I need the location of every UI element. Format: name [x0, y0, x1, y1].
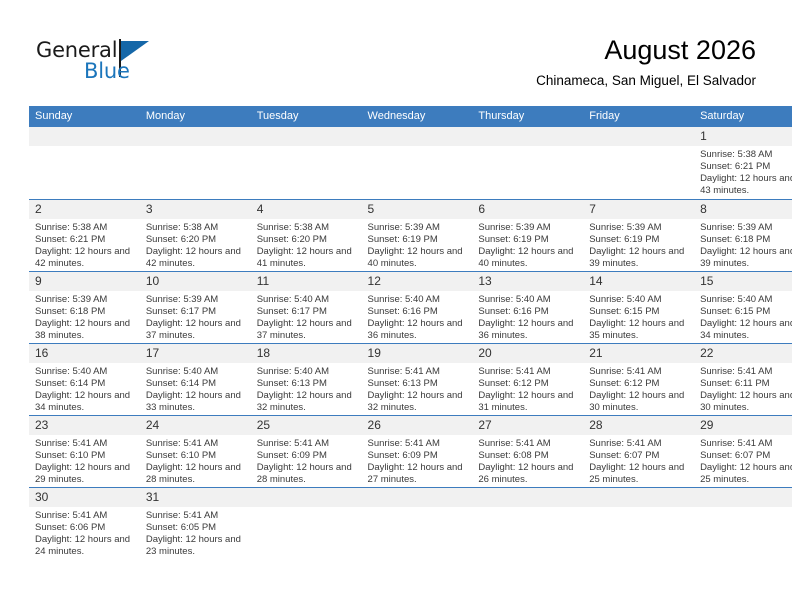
- sunrise-text: Sunrise: 5:41 AM: [368, 438, 468, 450]
- sunset-text: Sunset: 6:07 PM: [589, 450, 689, 462]
- day-number: [583, 488, 694, 507]
- calendar-week-row: 9Sunrise: 5:39 AMSunset: 6:18 PMDaylight…: [29, 271, 792, 343]
- calendar-header-row: SundayMondayTuesdayWednesdayThursdayFrid…: [29, 106, 792, 127]
- sunset-text: Sunset: 6:19 PM: [478, 234, 578, 246]
- sunrise-text: Sunrise: 5:41 AM: [146, 510, 246, 522]
- sunset-text: Sunset: 6:09 PM: [368, 450, 468, 462]
- daylight-text: Daylight: 12 hours and 28 minutes.: [257, 462, 357, 486]
- calendar-day-cell[interactable]: 4Sunrise: 5:38 AMSunset: 6:20 PMDaylight…: [251, 199, 362, 271]
- day-number: 28: [583, 416, 694, 435]
- sunrise-text: Sunrise: 5:40 AM: [257, 294, 357, 306]
- sunrise-text: Sunrise: 5:38 AM: [257, 222, 357, 234]
- day-details: Sunrise: 5:41 AMSunset: 6:10 PMDaylight:…: [29, 435, 140, 486]
- calendar-day-cell[interactable]: 11Sunrise: 5:40 AMSunset: 6:17 PMDayligh…: [251, 271, 362, 343]
- day-details: Sunrise: 5:41 AMSunset: 6:11 PMDaylight:…: [694, 363, 792, 414]
- sunrise-text: Sunrise: 5:41 AM: [368, 366, 468, 378]
- weekday-header-thursday: Thursday: [472, 106, 583, 127]
- sunset-text: Sunset: 6:12 PM: [589, 378, 689, 390]
- calendar-day-cell-empty: [362, 127, 473, 199]
- general-blue-logo[interactable]: General Blue: [36, 38, 166, 88]
- title-block: August 2026 Chinameca, San Miguel, El Sa…: [536, 34, 756, 91]
- calendar-day-cell[interactable]: 7Sunrise: 5:39 AMSunset: 6:19 PMDaylight…: [583, 199, 694, 271]
- weekday-header-monday: Monday: [140, 106, 251, 127]
- sunrise-text: Sunrise: 5:41 AM: [478, 438, 578, 450]
- sunrise-text: Sunrise: 5:38 AM: [700, 149, 792, 161]
- sunset-text: Sunset: 6:13 PM: [368, 378, 468, 390]
- sunset-text: Sunset: 6:14 PM: [146, 378, 246, 390]
- day-details: Sunrise: 5:41 AMSunset: 6:12 PMDaylight:…: [472, 363, 583, 414]
- sunrise-text: Sunrise: 5:41 AM: [700, 438, 792, 450]
- daylight-text: Daylight: 12 hours and 38 minutes.: [35, 318, 135, 342]
- day-number: 11: [251, 272, 362, 291]
- daylight-text: Daylight: 12 hours and 39 minutes.: [700, 246, 792, 270]
- day-number: [140, 127, 251, 146]
- daylight-text: Daylight: 12 hours and 34 minutes.: [35, 390, 135, 414]
- calendar-body: 1Sunrise: 5:38 AMSunset: 6:21 PMDaylight…: [29, 127, 792, 559]
- sunset-text: Sunset: 6:16 PM: [478, 306, 578, 318]
- page-title: August 2026: [536, 34, 756, 66]
- calendar-day-cell[interactable]: 6Sunrise: 5:39 AMSunset: 6:19 PMDaylight…: [472, 199, 583, 271]
- calendar-week-row: 30Sunrise: 5:41 AMSunset: 6:06 PMDayligh…: [29, 487, 792, 559]
- day-details: Sunrise: 5:39 AMSunset: 6:18 PMDaylight:…: [29, 291, 140, 342]
- sunset-text: Sunset: 6:06 PM: [35, 522, 135, 534]
- sunset-text: Sunset: 6:21 PM: [700, 161, 792, 173]
- sunset-text: Sunset: 6:14 PM: [35, 378, 135, 390]
- day-details: Sunrise: 5:39 AMSunset: 6:18 PMDaylight:…: [694, 219, 792, 270]
- calendar-day-cell[interactable]: 12Sunrise: 5:40 AMSunset: 6:16 PMDayligh…: [362, 271, 473, 343]
- calendar-day-cell-empty: [694, 487, 792, 559]
- weekday-header-sunday: Sunday: [29, 106, 140, 127]
- calendar-day-cell[interactable]: 8Sunrise: 5:39 AMSunset: 6:18 PMDaylight…: [694, 199, 792, 271]
- daylight-text: Daylight: 12 hours and 36 minutes.: [478, 318, 578, 342]
- weekday-header-wednesday: Wednesday: [362, 106, 473, 127]
- day-details: Sunrise: 5:41 AMSunset: 6:05 PMDaylight:…: [140, 507, 251, 558]
- day-number: [583, 127, 694, 146]
- day-details: Sunrise: 5:40 AMSunset: 6:16 PMDaylight:…: [472, 291, 583, 342]
- day-details: Sunrise: 5:39 AMSunset: 6:19 PMDaylight:…: [583, 219, 694, 270]
- calendar-day-cell[interactable]: 2Sunrise: 5:38 AMSunset: 6:21 PMDaylight…: [29, 199, 140, 271]
- day-number: 1: [694, 127, 792, 146]
- daylight-text: Daylight: 12 hours and 43 minutes.: [700, 173, 792, 197]
- calendar-day-cell[interactable]: 21Sunrise: 5:41 AMSunset: 6:12 PMDayligh…: [583, 343, 694, 415]
- day-number: [472, 488, 583, 507]
- logo-flag-icon: [121, 41, 149, 61]
- calendar-day-cell[interactable]: 26Sunrise: 5:41 AMSunset: 6:09 PMDayligh…: [362, 415, 473, 487]
- sunrise-text: Sunrise: 5:39 AM: [478, 222, 578, 234]
- day-number: [251, 488, 362, 507]
- sunrise-text: Sunrise: 5:41 AM: [35, 438, 135, 450]
- sunrise-text: Sunrise: 5:39 AM: [35, 294, 135, 306]
- day-number: 19: [362, 344, 473, 363]
- day-number: 6: [472, 200, 583, 219]
- daylight-text: Daylight: 12 hours and 35 minutes.: [589, 318, 689, 342]
- daylight-text: Daylight: 12 hours and 37 minutes.: [257, 318, 357, 342]
- sunrise-text: Sunrise: 5:40 AM: [478, 294, 578, 306]
- sunrise-text: Sunrise: 5:41 AM: [589, 366, 689, 378]
- day-details: Sunrise: 5:41 AMSunset: 6:12 PMDaylight:…: [583, 363, 694, 414]
- day-number: 20: [472, 344, 583, 363]
- weekday-header-saturday: Saturday: [694, 106, 792, 127]
- day-number: 21: [583, 344, 694, 363]
- sunrise-text: Sunrise: 5:39 AM: [368, 222, 468, 234]
- sunrise-text: Sunrise: 5:40 AM: [35, 366, 135, 378]
- day-number: [694, 488, 792, 507]
- day-details: Sunrise: 5:40 AMSunset: 6:13 PMDaylight:…: [251, 363, 362, 414]
- daylight-text: Daylight: 12 hours and 32 minutes.: [368, 390, 468, 414]
- daylight-text: Daylight: 12 hours and 36 minutes.: [368, 318, 468, 342]
- day-details: Sunrise: 5:41 AMSunset: 6:10 PMDaylight:…: [140, 435, 251, 486]
- day-number: 27: [472, 416, 583, 435]
- sunset-text: Sunset: 6:11 PM: [700, 378, 792, 390]
- day-number: 18: [251, 344, 362, 363]
- daylight-text: Daylight: 12 hours and 25 minutes.: [589, 462, 689, 486]
- sunset-text: Sunset: 6:17 PM: [257, 306, 357, 318]
- calendar-day-cell-empty: [251, 487, 362, 559]
- calendar-day-cell[interactable]: 31Sunrise: 5:41 AMSunset: 6:05 PMDayligh…: [140, 487, 251, 559]
- daylight-text: Daylight: 12 hours and 41 minutes.: [257, 246, 357, 270]
- calendar-day-cell[interactable]: 1Sunrise: 5:38 AMSunset: 6:21 PMDaylight…: [694, 127, 792, 199]
- calendar-day-cell[interactable]: 15Sunrise: 5:40 AMSunset: 6:15 PMDayligh…: [694, 271, 792, 343]
- calendar-day-cell[interactable]: 17Sunrise: 5:40 AMSunset: 6:14 PMDayligh…: [140, 343, 251, 415]
- calendar-day-cell[interactable]: 18Sunrise: 5:40 AMSunset: 6:13 PMDayligh…: [251, 343, 362, 415]
- sunset-text: Sunset: 6:19 PM: [368, 234, 468, 246]
- daylight-text: Daylight: 12 hours and 34 minutes.: [700, 318, 792, 342]
- day-details: Sunrise: 5:41 AMSunset: 6:13 PMDaylight:…: [362, 363, 473, 414]
- calendar-day-cell[interactable]: 14Sunrise: 5:40 AMSunset: 6:15 PMDayligh…: [583, 271, 694, 343]
- sunset-text: Sunset: 6:15 PM: [700, 306, 792, 318]
- calendar-day-cell[interactable]: 5Sunrise: 5:39 AMSunset: 6:19 PMDaylight…: [362, 199, 473, 271]
- day-number: 24: [140, 416, 251, 435]
- calendar-day-cell[interactable]: 28Sunrise: 5:41 AMSunset: 6:07 PMDayligh…: [583, 415, 694, 487]
- sunset-text: Sunset: 6:19 PM: [589, 234, 689, 246]
- day-number: [29, 127, 140, 146]
- sunrise-text: Sunrise: 5:40 AM: [368, 294, 468, 306]
- calendar-page: General Blue August 2026 Chinameca, San …: [0, 0, 792, 612]
- sunset-text: Sunset: 6:13 PM: [257, 378, 357, 390]
- day-details: Sunrise: 5:40 AMSunset: 6:17 PMDaylight:…: [251, 291, 362, 342]
- daylight-text: Daylight: 12 hours and 30 minutes.: [700, 390, 792, 414]
- calendar-day-cell-empty: [362, 487, 473, 559]
- calendar-day-cell[interactable]: 24Sunrise: 5:41 AMSunset: 6:10 PMDayligh…: [140, 415, 251, 487]
- day-number: 10: [140, 272, 251, 291]
- sunrise-text: Sunrise: 5:40 AM: [146, 366, 246, 378]
- daylight-text: Daylight: 12 hours and 42 minutes.: [146, 246, 246, 270]
- day-number: 7: [583, 200, 694, 219]
- sunrise-text: Sunrise: 5:41 AM: [478, 366, 578, 378]
- sunrise-text: Sunrise: 5:41 AM: [257, 438, 357, 450]
- calendar-day-cell[interactable]: 10Sunrise: 5:39 AMSunset: 6:17 PMDayligh…: [140, 271, 251, 343]
- daylight-text: Daylight: 12 hours and 27 minutes.: [368, 462, 468, 486]
- weekday-header-friday: Friday: [583, 106, 694, 127]
- sunset-text: Sunset: 6:20 PM: [146, 234, 246, 246]
- day-details: Sunrise: 5:38 AMSunset: 6:21 PMDaylight:…: [694, 146, 792, 197]
- day-details: Sunrise: 5:39 AMSunset: 6:19 PMDaylight:…: [362, 219, 473, 270]
- day-number: 22: [694, 344, 792, 363]
- day-number: 26: [362, 416, 473, 435]
- calendar-table: SundayMondayTuesdayWednesdayThursdayFrid…: [29, 106, 792, 559]
- day-details: Sunrise: 5:38 AMSunset: 6:20 PMDaylight:…: [251, 219, 362, 270]
- day-details: Sunrise: 5:41 AMSunset: 6:08 PMDaylight:…: [472, 435, 583, 486]
- calendar-week-row: 16Sunrise: 5:40 AMSunset: 6:14 PMDayligh…: [29, 343, 792, 415]
- day-number: 8: [694, 200, 792, 219]
- day-number: 5: [362, 200, 473, 219]
- daylight-text: Daylight: 12 hours and 28 minutes.: [146, 462, 246, 486]
- calendar-day-cell[interactable]: 30Sunrise: 5:41 AMSunset: 6:06 PMDayligh…: [29, 487, 140, 559]
- calendar-day-cell[interactable]: 23Sunrise: 5:41 AMSunset: 6:10 PMDayligh…: [29, 415, 140, 487]
- page-subtitle: Chinameca, San Miguel, El Salvador: [536, 71, 756, 91]
- calendar-day-cell[interactable]: 27Sunrise: 5:41 AMSunset: 6:08 PMDayligh…: [472, 415, 583, 487]
- day-details: Sunrise: 5:38 AMSunset: 6:20 PMDaylight:…: [140, 219, 251, 270]
- day-details: Sunrise: 5:41 AMSunset: 6:09 PMDaylight:…: [362, 435, 473, 486]
- day-number: [362, 488, 473, 507]
- day-details: Sunrise: 5:40 AMSunset: 6:15 PMDaylight:…: [583, 291, 694, 342]
- daylight-text: Daylight: 12 hours and 32 minutes.: [257, 390, 357, 414]
- day-number: 17: [140, 344, 251, 363]
- day-number: 29: [694, 416, 792, 435]
- day-details: Sunrise: 5:41 AMSunset: 6:06 PMDaylight:…: [29, 507, 140, 558]
- day-details: Sunrise: 5:40 AMSunset: 6:14 PMDaylight:…: [29, 363, 140, 414]
- day-details: Sunrise: 5:39 AMSunset: 6:17 PMDaylight:…: [140, 291, 251, 342]
- sunrise-text: Sunrise: 5:39 AM: [146, 294, 246, 306]
- daylight-text: Daylight: 12 hours and 42 minutes.: [35, 246, 135, 270]
- sunset-text: Sunset: 6:21 PM: [35, 234, 135, 246]
- sunset-text: Sunset: 6:20 PM: [257, 234, 357, 246]
- day-details: Sunrise: 5:38 AMSunset: 6:21 PMDaylight:…: [29, 219, 140, 270]
- calendar-day-cell-empty: [29, 127, 140, 199]
- sunrise-text: Sunrise: 5:38 AM: [35, 222, 135, 234]
- sunset-text: Sunset: 6:07 PM: [700, 450, 792, 462]
- calendar-day-cell[interactable]: 25Sunrise: 5:41 AMSunset: 6:09 PMDayligh…: [251, 415, 362, 487]
- daylight-text: Daylight: 12 hours and 40 minutes.: [368, 246, 468, 270]
- sunrise-text: Sunrise: 5:38 AM: [146, 222, 246, 234]
- calendar-day-cell[interactable]: 29Sunrise: 5:41 AMSunset: 6:07 PMDayligh…: [694, 415, 792, 487]
- calendar-day-cell[interactable]: 19Sunrise: 5:41 AMSunset: 6:13 PMDayligh…: [362, 343, 473, 415]
- calendar-day-cell-empty: [472, 487, 583, 559]
- sunset-text: Sunset: 6:08 PM: [478, 450, 578, 462]
- daylight-text: Daylight: 12 hours and 30 minutes.: [589, 390, 689, 414]
- daylight-text: Daylight: 12 hours and 37 minutes.: [146, 318, 246, 342]
- day-number: 2: [29, 200, 140, 219]
- sunrise-text: Sunrise: 5:41 AM: [700, 366, 792, 378]
- sunset-text: Sunset: 6:18 PM: [35, 306, 135, 318]
- day-number: 14: [583, 272, 694, 291]
- day-number: [362, 127, 473, 146]
- day-number: 16: [29, 344, 140, 363]
- sunrise-text: Sunrise: 5:39 AM: [700, 222, 792, 234]
- sunset-text: Sunset: 6:09 PM: [257, 450, 357, 462]
- daylight-text: Daylight: 12 hours and 40 minutes.: [478, 246, 578, 270]
- day-number: 25: [251, 416, 362, 435]
- calendar-week-row: 1Sunrise: 5:38 AMSunset: 6:21 PMDaylight…: [29, 127, 792, 199]
- sunset-text: Sunset: 6:16 PM: [368, 306, 468, 318]
- daylight-text: Daylight: 12 hours and 23 minutes.: [146, 534, 246, 558]
- day-number: 13: [472, 272, 583, 291]
- day-details: Sunrise: 5:41 AMSunset: 6:07 PMDaylight:…: [583, 435, 694, 486]
- calendar-week-row: 2Sunrise: 5:38 AMSunset: 6:21 PMDaylight…: [29, 199, 792, 271]
- day-details: Sunrise: 5:40 AMSunset: 6:16 PMDaylight:…: [362, 291, 473, 342]
- daylight-text: Daylight: 12 hours and 31 minutes.: [478, 390, 578, 414]
- sunset-text: Sunset: 6:12 PM: [478, 378, 578, 390]
- calendar-day-cell-empty: [472, 127, 583, 199]
- sunrise-text: Sunrise: 5:41 AM: [589, 438, 689, 450]
- calendar-day-cell-empty: [583, 487, 694, 559]
- sunset-text: Sunset: 6:10 PM: [35, 450, 135, 462]
- sunrise-text: Sunrise: 5:40 AM: [257, 366, 357, 378]
- sunset-text: Sunset: 6:18 PM: [700, 234, 792, 246]
- day-number: 12: [362, 272, 473, 291]
- sunset-text: Sunset: 6:10 PM: [146, 450, 246, 462]
- day-number: 30: [29, 488, 140, 507]
- calendar-day-cell[interactable]: 20Sunrise: 5:41 AMSunset: 6:12 PMDayligh…: [472, 343, 583, 415]
- daylight-text: Daylight: 12 hours and 26 minutes.: [478, 462, 578, 486]
- daylight-text: Daylight: 12 hours and 24 minutes.: [35, 534, 135, 558]
- daylight-text: Daylight: 12 hours and 29 minutes.: [35, 462, 135, 486]
- calendar-day-cell-empty: [583, 127, 694, 199]
- sunset-text: Sunset: 6:05 PM: [146, 522, 246, 534]
- calendar-week-row: 23Sunrise: 5:41 AMSunset: 6:10 PMDayligh…: [29, 415, 792, 487]
- sunrise-text: Sunrise: 5:41 AM: [146, 438, 246, 450]
- calendar-day-cell[interactable]: 9Sunrise: 5:39 AMSunset: 6:18 PMDaylight…: [29, 271, 140, 343]
- calendar-day-cell[interactable]: 22Sunrise: 5:41 AMSunset: 6:11 PMDayligh…: [694, 343, 792, 415]
- calendar-day-cell-empty: [140, 127, 251, 199]
- calendar-day-cell[interactable]: 3Sunrise: 5:38 AMSunset: 6:20 PMDaylight…: [140, 199, 251, 271]
- day-number: 31: [140, 488, 251, 507]
- daylight-text: Daylight: 12 hours and 25 minutes.: [700, 462, 792, 486]
- day-number: 15: [694, 272, 792, 291]
- sunset-text: Sunset: 6:17 PM: [146, 306, 246, 318]
- day-number: 23: [29, 416, 140, 435]
- day-number: 4: [251, 200, 362, 219]
- weekday-header-tuesday: Tuesday: [251, 106, 362, 127]
- sunrise-text: Sunrise: 5:40 AM: [589, 294, 689, 306]
- sunrise-text: Sunrise: 5:40 AM: [700, 294, 792, 306]
- day-details: Sunrise: 5:39 AMSunset: 6:19 PMDaylight:…: [472, 219, 583, 270]
- day-number: 9: [29, 272, 140, 291]
- calendar-day-cell[interactable]: 13Sunrise: 5:40 AMSunset: 6:16 PMDayligh…: [472, 271, 583, 343]
- sunrise-text: Sunrise: 5:41 AM: [35, 510, 135, 522]
- day-details: Sunrise: 5:41 AMSunset: 6:07 PMDaylight:…: [694, 435, 792, 486]
- day-details: Sunrise: 5:41 AMSunset: 6:09 PMDaylight:…: [251, 435, 362, 486]
- logo-text-blue: Blue: [84, 59, 130, 83]
- daylight-text: Daylight: 12 hours and 33 minutes.: [146, 390, 246, 414]
- sunrise-text: Sunrise: 5:39 AM: [589, 222, 689, 234]
- day-number: [251, 127, 362, 146]
- calendar-day-cell-empty: [251, 127, 362, 199]
- day-details: Sunrise: 5:40 AMSunset: 6:15 PMDaylight:…: [694, 291, 792, 342]
- day-details: Sunrise: 5:40 AMSunset: 6:14 PMDaylight:…: [140, 363, 251, 414]
- day-number: 3: [140, 200, 251, 219]
- sunset-text: Sunset: 6:15 PM: [589, 306, 689, 318]
- page-header: General Blue August 2026 Chinameca, San …: [0, 0, 792, 100]
- calendar-day-cell[interactable]: 16Sunrise: 5:40 AMSunset: 6:14 PMDayligh…: [29, 343, 140, 415]
- day-number: [472, 127, 583, 146]
- daylight-text: Daylight: 12 hours and 39 minutes.: [589, 246, 689, 270]
